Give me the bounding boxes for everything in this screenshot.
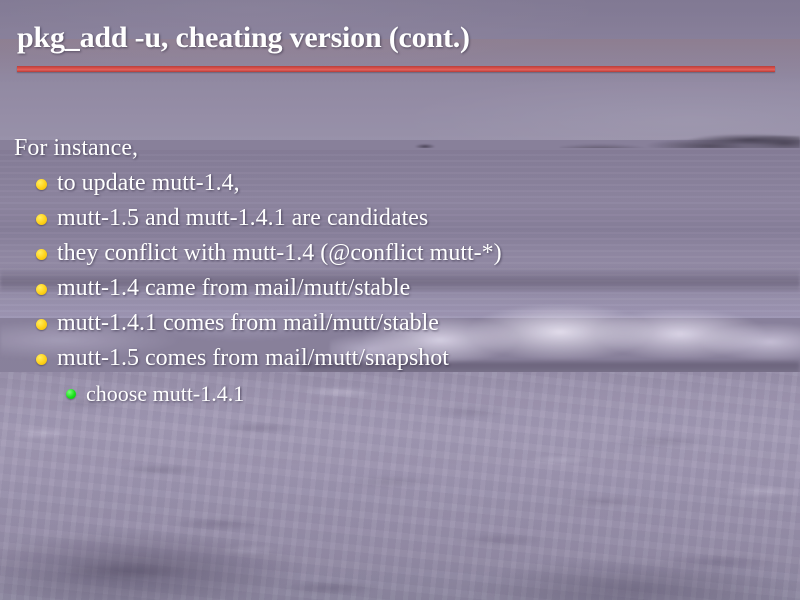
bullet-text: choose mutt-1.4.1: [86, 381, 244, 406]
bullet-dot-yellow-icon: [36, 284, 47, 295]
photo-surf-shadow-left: [0, 510, 380, 600]
bullet-dot-yellow-icon: [36, 179, 47, 190]
bullet-dot-yellow-icon: [36, 214, 47, 225]
bullet-item: they conflict with mutt-1.4 (@conflict m…: [0, 236, 800, 271]
bullet-text: mutt-1.4.1 comes from mail/mutt/stable: [57, 310, 439, 336]
bullet-dot-yellow-icon: [36, 354, 47, 365]
bullet-dot-yellow-icon: [36, 249, 47, 260]
bullet-text: they conflict with mutt-1.4 (@conflict m…: [57, 240, 502, 266]
slide-title: pkg_add -u, cheating version (cont.): [17, 21, 470, 55]
title-underline-rule: [17, 66, 775, 72]
bullet-text: mutt-1.5 and mutt-1.4.1 are candidates: [57, 205, 428, 231]
bullet-item: mutt-1.5 and mutt-1.4.1 are candidates: [0, 201, 800, 236]
photo-surf-shadow-right: [430, 540, 800, 600]
bullet-item: choose mutt-1.4.1: [0, 376, 800, 411]
bullet-item: to update mutt-1.4,: [0, 166, 800, 201]
bullet-item: mutt-1.4.1 comes from mail/mutt/stable: [0, 306, 800, 341]
bullet-item: mutt-1.5 comes from mail/mutt/snapshot: [0, 341, 800, 376]
bullet-list: to update mutt-1.4,mutt-1.5 and mutt-1.4…: [0, 166, 800, 411]
bullet-text: mutt-1.4 came from mail/mutt/stable: [57, 275, 410, 301]
bullet-dot-yellow-icon: [36, 319, 47, 330]
slide-body: For instance, to update mutt-1.4,mutt-1.…: [0, 131, 800, 411]
bullet-text: to update mutt-1.4,: [57, 170, 240, 196]
bullet-dot-green-icon: [66, 389, 76, 399]
presentation-slide: pkg_add -u, cheating version (cont.) For…: [0, 0, 800, 600]
lead-paragraph: For instance,: [14, 131, 800, 166]
bullet-item: mutt-1.4 came from mail/mutt/stable: [0, 271, 800, 306]
bullet-text: mutt-1.5 comes from mail/mutt/snapshot: [57, 345, 449, 371]
